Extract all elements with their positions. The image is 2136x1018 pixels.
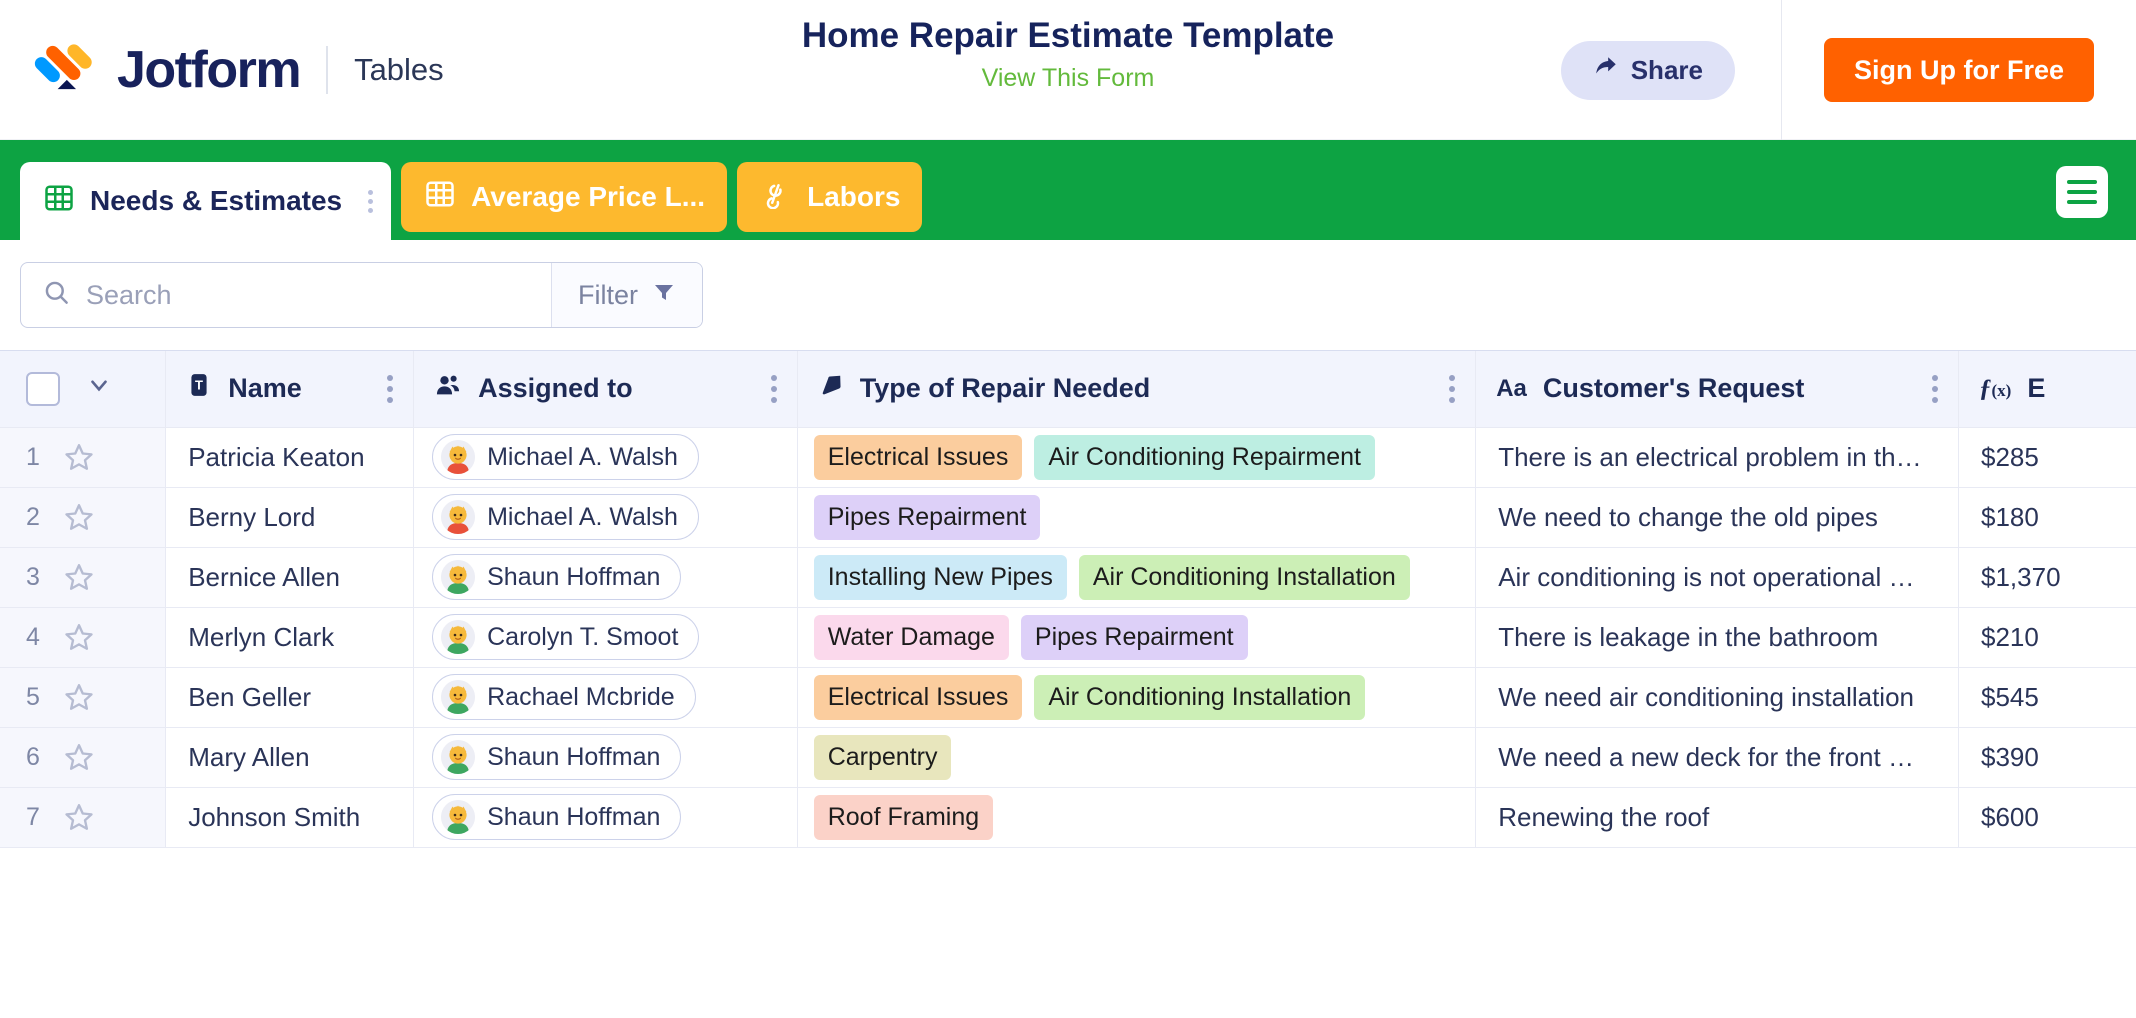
cell-estimate[interactable]: $285 (1959, 427, 2136, 487)
column-header-estimate[interactable]: ƒ(x) E (1959, 351, 2136, 427)
row-select-cell[interactable]: 6 (0, 727, 166, 787)
row-select-cell[interactable]: 3 (0, 547, 166, 607)
cell-name[interactable]: Patricia Keaton (166, 427, 414, 487)
repair-type-tag[interactable]: Air Conditioning Installation (1034, 675, 1365, 720)
cell-assigned-to[interactable]: Shaun Hoffman (414, 787, 798, 847)
avatar (441, 440, 475, 474)
search-input[interactable] (86, 280, 551, 311)
column-header-name[interactable]: T Name (166, 351, 414, 427)
grid-icon (44, 183, 74, 220)
tab-labors[interactable]: Labors (737, 162, 922, 232)
column-header-select (0, 351, 166, 427)
row-number: 4 (26, 623, 40, 652)
svg-text:T: T (195, 378, 203, 393)
assignee-name: Rachael Mcbride (487, 683, 675, 712)
repair-type-tag[interactable]: Installing New Pipes (814, 555, 1067, 600)
assignee-chip[interactable]: Rachael Mcbride (432, 674, 696, 720)
row-number: 2 (26, 503, 40, 532)
assignee-name: Shaun Hoffman (487, 803, 660, 832)
column-options-icon[interactable] (387, 375, 393, 403)
cell-customer-request[interactable]: We need a new deck for the front … (1476, 727, 1959, 787)
repair-type-tag[interactable]: Pipes Repairment (1021, 615, 1248, 660)
column-label: Customer's Request (1543, 373, 1916, 404)
column-label: Type of Repair Needed (860, 373, 1434, 404)
favorite-star-icon[interactable] (64, 682, 94, 712)
cell-customer-request[interactable]: There is leakage in the bathroom (1476, 607, 1959, 667)
cell-name[interactable]: Berny Lord (166, 487, 414, 547)
tag-icon (818, 372, 844, 405)
share-icon (1593, 54, 1619, 87)
column-options-icon[interactable] (1449, 375, 1455, 403)
brand-area: Jotform Tables (0, 39, 444, 101)
filter-icon (652, 280, 676, 311)
repair-type-tag[interactable]: Pipes Repairment (814, 495, 1041, 540)
cell-estimate[interactable]: $600 (1959, 787, 2136, 847)
cell-name[interactable]: Johnson Smith (166, 787, 414, 847)
assignee-name: Michael A. Walsh (487, 503, 678, 532)
cell-estimate[interactable]: $1,370 (1959, 547, 2136, 607)
assignee-chip[interactable]: Michael A. Walsh (432, 494, 699, 540)
assignee-name: Michael A. Walsh (487, 443, 678, 472)
cell-assigned-to[interactable]: Michael A. Walsh (414, 487, 798, 547)
header-divider (1781, 0, 1782, 140)
table-row[interactable]: 1 Patricia Keaton Michael A. Walsh (0, 427, 2136, 487)
table-row[interactable]: 7 Johnson Smith Shaun Hoffman (0, 787, 2136, 847)
tab-label: Average Price L... (471, 181, 705, 213)
tab-label: Labors (807, 181, 900, 213)
header-actions: Share Sign Up for Free (1561, 0, 2136, 140)
table-row[interactable]: 6 Mary Allen Shaun Hoffman (0, 727, 2136, 787)
cell-customer-request[interactable]: We need to change the old pipes (1476, 487, 1959, 547)
row-select-cell[interactable]: 7 (0, 787, 166, 847)
jotform-logo-icon[interactable] (33, 39, 95, 101)
data-table: T Name (0, 351, 2136, 848)
cell-assigned-to[interactable]: Michael A. Walsh (414, 427, 798, 487)
link-icon (761, 179, 791, 216)
row-number: 7 (26, 803, 40, 832)
row-select-cell[interactable]: 5 (0, 667, 166, 727)
column-options-icon[interactable] (771, 375, 777, 403)
cell-name[interactable]: Mary Allen (166, 727, 414, 787)
cell-repair-type[interactable]: Electrical IssuesAir Conditioning Repair… (797, 427, 1476, 487)
column-label: E (2027, 373, 2136, 404)
brand-name: Jotform (117, 44, 300, 96)
text-field-icon: T (186, 372, 212, 405)
repair-type-tag[interactable]: Electrical Issues (814, 435, 1023, 480)
formula-icon: ƒ(x) (1979, 375, 2011, 403)
cell-repair-type[interactable]: Water DamagePipes Repairment (797, 607, 1476, 667)
filter-label: Filter (578, 280, 638, 311)
cell-repair-type[interactable]: Pipes Repairment (797, 487, 1476, 547)
grid-icon (425, 179, 455, 216)
data-table-container[interactable]: T Name (0, 350, 2136, 900)
tab-needs-estimates[interactable]: Needs & Estimates (20, 162, 391, 240)
avatar (441, 740, 475, 774)
column-label: Assigned to (478, 373, 755, 404)
share-label: Share (1631, 55, 1703, 86)
cell-estimate[interactable]: $180 (1959, 487, 2136, 547)
table-row[interactable]: 5 Ben Geller Rachael Mcbride (0, 667, 2136, 727)
cell-customer-request[interactable]: Air conditioning is not operational … (1476, 547, 1959, 607)
column-label: Name (228, 373, 371, 404)
cell-repair-type[interactable]: Installing New PipesAir Conditioning Ins… (797, 547, 1476, 607)
cell-assigned-to[interactable]: Shaun Hoffman (414, 547, 798, 607)
table-header-row: T Name (0, 351, 2136, 427)
search-filter-group: Filter (20, 262, 703, 328)
app-header: Jotform Tables Home Repair Estimate Temp… (0, 0, 2136, 140)
cell-name[interactable]: Ben Geller (166, 667, 414, 727)
chevron-down-icon[interactable] (86, 372, 112, 405)
search-field[interactable] (21, 263, 551, 327)
cell-name[interactable]: Merlyn Clark (166, 607, 414, 667)
assignee-name: Carolyn T. Smoot (487, 623, 678, 652)
row-number: 5 (26, 683, 40, 712)
table-toolbar: Filter (0, 240, 2136, 350)
repair-type-tag[interactable]: Water Damage (814, 615, 1009, 660)
cell-assigned-to[interactable]: Carolyn T. Smoot (414, 607, 798, 667)
cell-estimate[interactable]: $545 (1959, 667, 2136, 727)
assignee-chip[interactable]: Carolyn T. Smoot (432, 614, 699, 660)
repair-type-tag[interactable]: Roof Framing (814, 795, 993, 840)
cell-assigned-to[interactable]: Shaun Hoffman (414, 727, 798, 787)
table-row[interactable]: 2 Berny Lord Michael A. Walsh (0, 487, 2136, 547)
cell-repair-type[interactable]: Carpentry (797, 727, 1476, 787)
repair-type-tag[interactable]: Carpentry (814, 735, 952, 780)
tab-options-icon[interactable] (368, 190, 377, 213)
avatar (441, 500, 475, 534)
column-header-assigned-to[interactable]: Assigned to (414, 351, 798, 427)
share-button[interactable]: Share (1561, 41, 1735, 100)
tab-average-price-list[interactable]: Average Price L... (401, 162, 727, 232)
select-all-checkbox[interactable] (26, 372, 60, 406)
favorite-star-icon[interactable] (64, 622, 94, 652)
cell-customer-request[interactable]: We need air conditioning installation (1476, 667, 1959, 727)
long-text-icon: Aa (1496, 375, 1527, 403)
row-select-cell[interactable]: 4 (0, 607, 166, 667)
search-icon (43, 279, 70, 311)
tab-label: Needs & Estimates (90, 185, 342, 217)
column-options-icon[interactable] (1932, 375, 1938, 403)
cell-customer-request[interactable]: Renewing the roof (1476, 787, 1959, 847)
table-tab-bar: Needs & Estimates Average Price L... Lab… (0, 140, 2136, 240)
product-name: Tables (354, 52, 444, 88)
table-row[interactable]: 3 Bernice Allen Shaun Hoffman (0, 547, 2136, 607)
signup-button[interactable]: Sign Up for Free (1824, 38, 2094, 102)
brand-divider (326, 46, 328, 94)
favorite-star-icon[interactable] (64, 562, 94, 592)
cell-repair-type[interactable]: Roof Framing (797, 787, 1476, 847)
people-icon (434, 371, 462, 406)
avatar (441, 560, 475, 594)
row-select-cell[interactable]: 1 (0, 427, 166, 487)
assignee-name: Shaun Hoffman (487, 743, 660, 772)
cell-estimate[interactable]: $390 (1959, 727, 2136, 787)
favorite-star-icon[interactable] (64, 442, 94, 472)
repair-type-tag[interactable]: Electrical Issues (814, 675, 1023, 720)
favorite-star-icon[interactable] (64, 802, 94, 832)
row-number: 3 (26, 563, 40, 592)
repair-type-tag[interactable]: Air Conditioning Repairment (1034, 435, 1375, 480)
assignee-chip[interactable]: Shaun Hoffman (432, 734, 681, 780)
menu-icon[interactable] (2056, 166, 2108, 218)
filter-button[interactable]: Filter (551, 263, 702, 327)
view-this-form-link[interactable]: View This Form (982, 64, 1155, 93)
avatar (441, 680, 475, 714)
avatar (441, 800, 475, 834)
cell-customer-request[interactable]: There is an electrical problem in th… (1476, 427, 1959, 487)
column-header-customers-request[interactable]: Aa Customer's Request (1476, 351, 1959, 427)
assignee-chip[interactable]: Michael A. Walsh (432, 434, 699, 480)
favorite-star-icon[interactable] (64, 502, 94, 532)
assignee-chip[interactable]: Shaun Hoffman (432, 794, 681, 840)
avatar (441, 620, 475, 654)
favorite-star-icon[interactable] (64, 742, 94, 772)
table-body: 1 Patricia Keaton Michael A. Walsh (0, 427, 2136, 847)
cell-name[interactable]: Bernice Allen (166, 547, 414, 607)
repair-type-tag[interactable]: Air Conditioning Installation (1079, 555, 1410, 600)
row-number: 6 (26, 743, 40, 772)
assignee-chip[interactable]: Shaun Hoffman (432, 554, 681, 600)
cell-repair-type[interactable]: Electrical IssuesAir Conditioning Instal… (797, 667, 1476, 727)
cell-assigned-to[interactable]: Rachael Mcbride (414, 667, 798, 727)
cell-estimate[interactable]: $210 (1959, 607, 2136, 667)
row-select-cell[interactable]: 2 (0, 487, 166, 547)
column-header-type-of-repair[interactable]: Type of Repair Needed (797, 351, 1476, 427)
assignee-name: Shaun Hoffman (487, 563, 660, 592)
table-row[interactable]: 4 Merlyn Clark Carolyn T. Smoot (0, 607, 2136, 667)
row-number: 1 (26, 443, 40, 472)
